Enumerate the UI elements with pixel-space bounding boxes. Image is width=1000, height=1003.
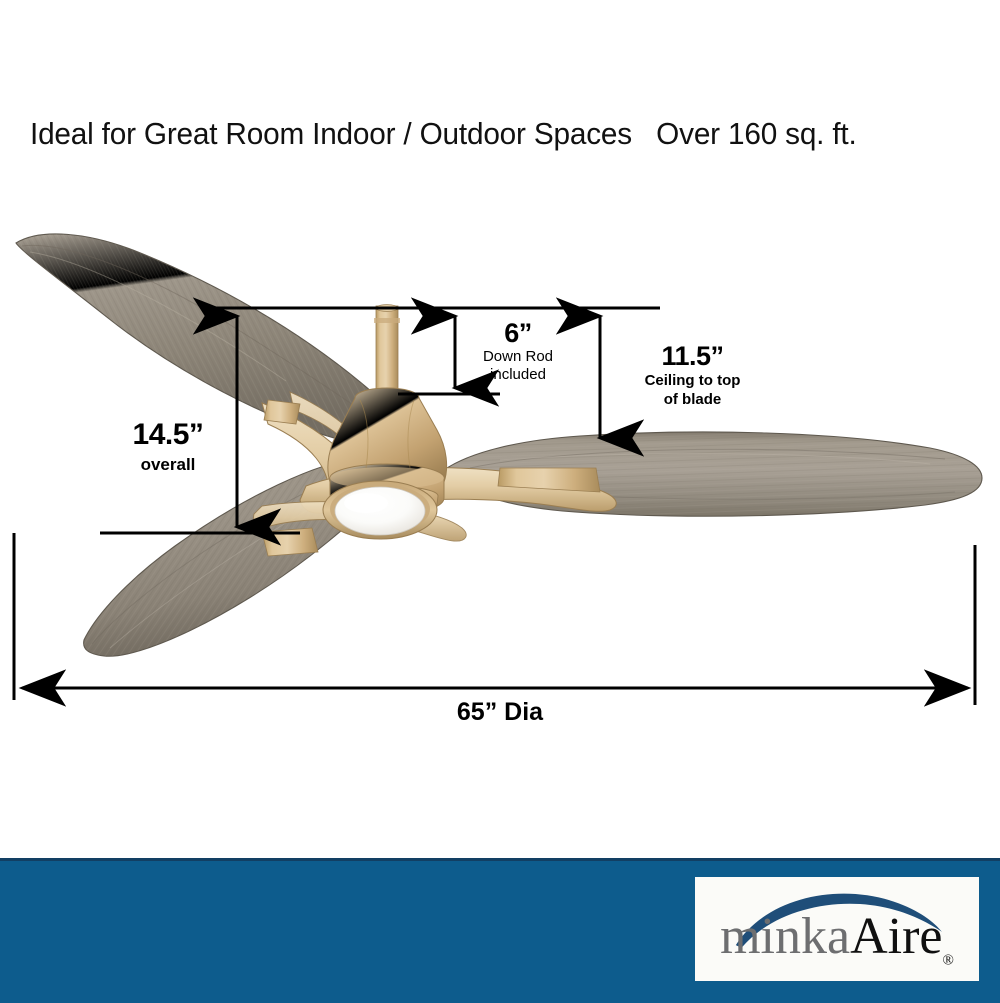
ceiling-to-blade-caption-2: of blade <box>605 392 780 409</box>
brand-logo: minkaAire® <box>692 874 982 984</box>
fan-blade-upper-left <box>16 234 400 445</box>
downrod-dimension-label: 6” Down Rod included <box>443 318 593 384</box>
brand-logo-wordmark: minkaAire® <box>695 911 979 968</box>
overall-dimension-value: 14.5” <box>78 418 258 452</box>
downrod-dimension-caption-1: Down Rod <box>443 349 593 366</box>
fan-light-globe <box>323 481 437 539</box>
diameter-dimension-label: 65” Dia <box>380 698 620 726</box>
ceiling-to-blade-value: 11.5” <box>605 341 780 371</box>
ceiling-to-blade-dimension-label: 11.5” Ceiling to top of blade <box>605 341 780 409</box>
brand-name-part2: Aire <box>850 908 942 965</box>
diameter-dimension-value: 65” Dia <box>380 698 620 726</box>
downrod-dimension-caption-2: included <box>443 367 593 384</box>
fan-dimension-illustration <box>0 0 1000 1000</box>
ceiling-to-blade-caption-1: Ceiling to top <box>605 373 780 390</box>
downrod-dimension-value: 6” <box>443 318 593 348</box>
registered-trademark-symbol: ® <box>942 952 953 968</box>
overall-dimension-caption: overall <box>78 455 258 474</box>
brand-name-part1: minka <box>720 908 850 965</box>
diagram-page: Ideal for Great Room Indoor / Outdoor Sp… <box>0 0 1000 1000</box>
fan-downrod <box>374 305 400 394</box>
overall-dimension-label: 14.5” overall <box>78 418 258 474</box>
